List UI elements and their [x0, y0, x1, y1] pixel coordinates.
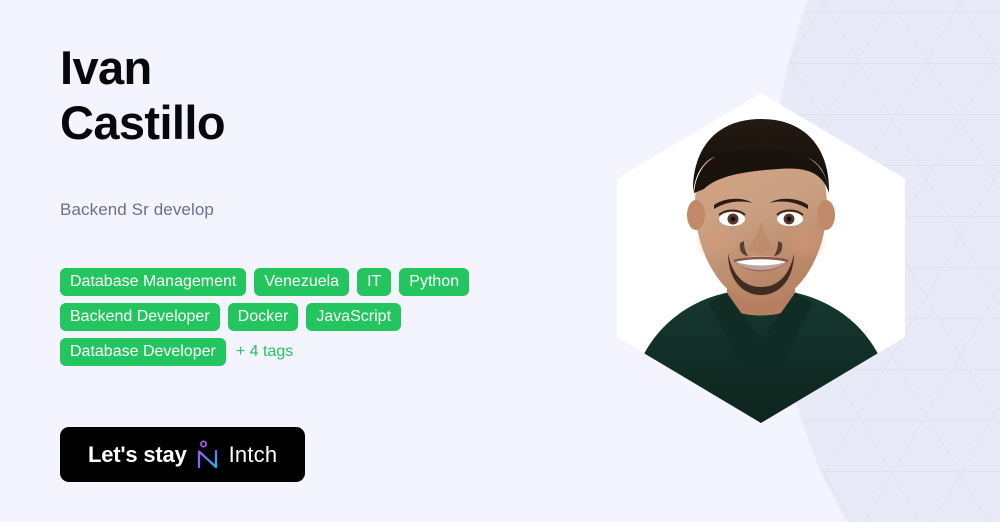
tag-item[interactable]: IT	[357, 268, 391, 296]
name-line-1: Ivan	[60, 41, 152, 94]
tag-item[interactable]: Database Management	[60, 268, 246, 296]
tag-item[interactable]: JavaScript	[306, 303, 401, 331]
tag-item[interactable]: Backend Developer	[60, 303, 220, 331]
page-title: IvanCastillo	[60, 40, 390, 150]
avatar-hexagon-frame	[608, 93, 914, 423]
job-title: Backend Sr develop	[60, 198, 214, 222]
name-line-2: Castillo	[60, 96, 225, 149]
tag-item[interactable]: Docker	[228, 303, 299, 331]
profile-info: IvanCastillo Backend Sr develop Database…	[60, 0, 600, 522]
avatar-photo	[608, 93, 914, 423]
avatar	[608, 93, 914, 423]
lets-stay-intch-button[interactable]: Let's stay Intch	[60, 427, 305, 482]
more-tags-label[interactable]: + 4 tags	[234, 338, 293, 366]
tag-item[interactable]: Venezuela	[254, 268, 349, 296]
cta-text-after: Intch	[229, 442, 278, 468]
tag-item[interactable]: Python	[399, 268, 469, 296]
profile-card: IvanCastillo Backend Sr develop Database…	[0, 0, 1000, 522]
tag-item[interactable]: Database Developer	[60, 338, 226, 366]
intch-logo-icon	[194, 439, 222, 471]
tag-list: Database Management Venezuela IT Python …	[60, 268, 540, 366]
cta-text-before: Let's stay	[88, 442, 187, 468]
